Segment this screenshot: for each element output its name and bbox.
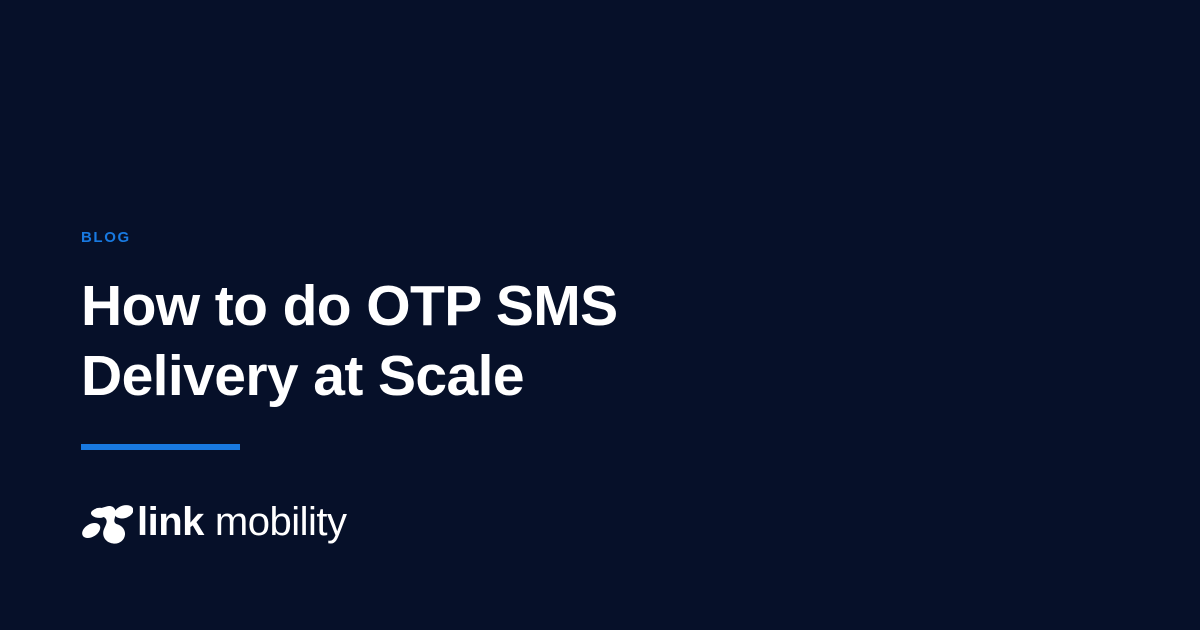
page-title-line-1: How to do OTP SMS [81,274,618,338]
logo-word-mobility: mobility [215,502,347,542]
logo-wordmark: link mobility [137,502,347,542]
category-eyebrow-blog: BLOG [81,228,781,248]
accent-divider [81,444,240,450]
blog-share-card: BLOG How to do OTP SMS Delivery at Scale… [0,0,1200,630]
link-mobility-logo: link mobility [81,497,347,547]
logo-word-link: link [137,502,204,542]
page-title: How to do OTP SMS Delivery at Scale [81,271,741,411]
card-content: BLOG How to do OTP SMS Delivery at Scale [81,228,781,450]
link-mobility-mark-icon [81,499,133,545]
page-title-line-2: Delivery at Scale [81,344,524,408]
